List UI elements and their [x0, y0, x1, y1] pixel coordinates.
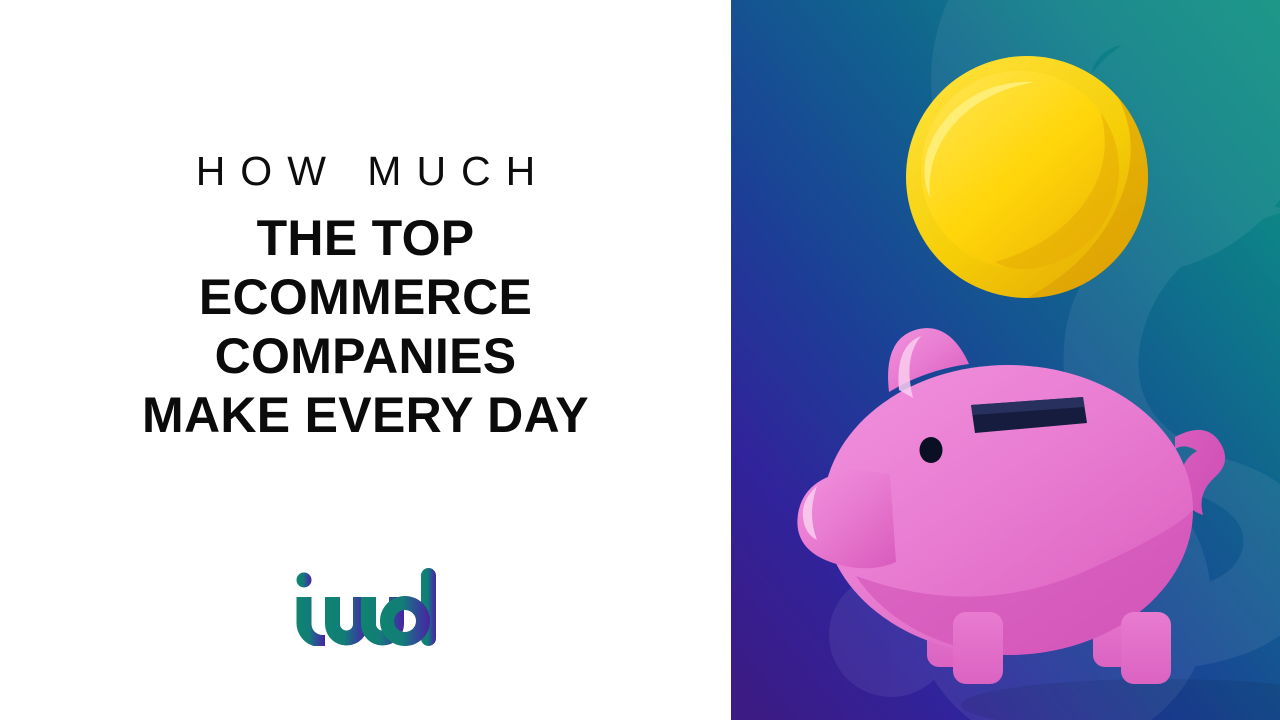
piggy-leg-front-left: [953, 612, 1003, 684]
poster-canvas: HOW MUCH THE TOP ECOMMERCE COMPANIES MAK…: [0, 0, 1280, 720]
headline-line-3: COMPANIES: [0, 327, 731, 386]
headline-line-2: ECOMMERCE: [0, 268, 731, 327]
gold-coin-icon: [906, 56, 1148, 298]
illustration-canvas: [731, 0, 1280, 720]
headline-line-4: MAKE EVERY DAY: [0, 386, 731, 445]
left-content-panel: HOW MUCH THE TOP ECOMMERCE COMPANIES MAK…: [0, 0, 731, 720]
piggy-eye: [920, 437, 943, 463]
iwd-logo-icon: [292, 566, 440, 646]
piggy-leg-front-right: [1121, 612, 1171, 684]
brand-logo[interactable]: [0, 566, 731, 646]
right-illustration-panel: [731, 0, 1280, 720]
headline-block: HOW MUCH THE TOP ECOMMERCE COMPANIES MAK…: [0, 148, 731, 445]
headline-line-1: THE TOP: [0, 209, 731, 268]
headline-kicker: HOW MUCH: [0, 148, 731, 195]
